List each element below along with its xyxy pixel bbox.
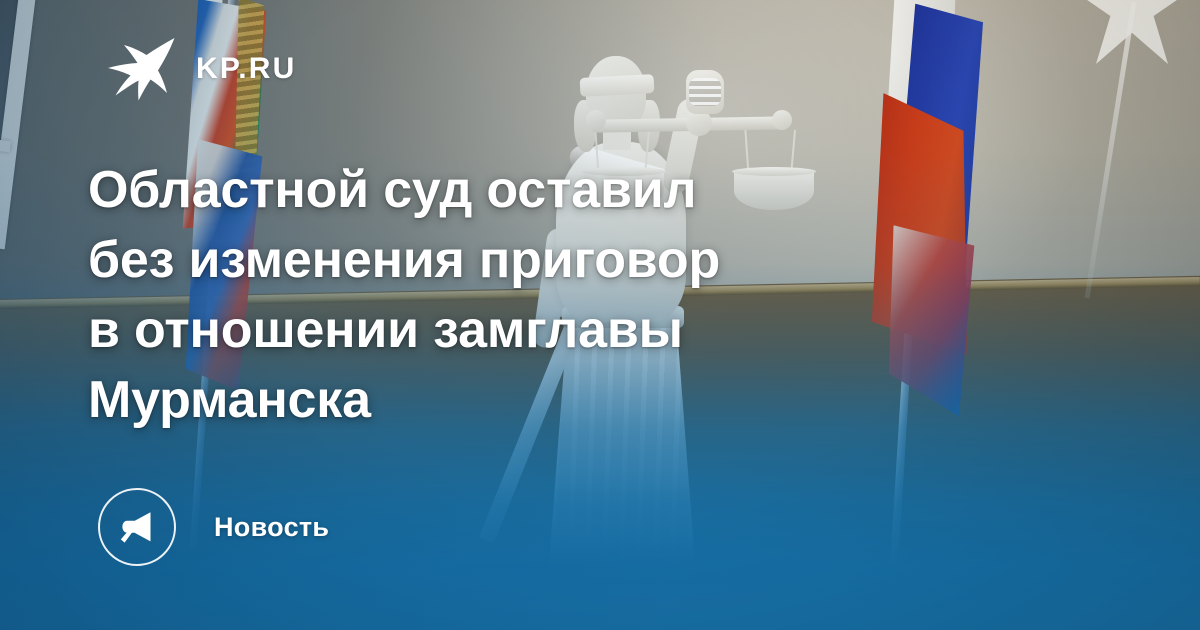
headline-line: Областной суд оставил: [88, 155, 848, 225]
headline-line: в отношении замглавы: [88, 295, 848, 365]
news-share-card: KP.RU Областной суд оставил без изменени…: [0, 0, 1200, 630]
status-badge[interactable]: Новость: [98, 488, 329, 566]
brand-logo[interactable]: KP.RU: [104, 36, 296, 102]
headline-line: Мурманска: [88, 365, 848, 435]
badge-icon-circle: [98, 488, 176, 566]
brand-name: KP.RU: [196, 54, 296, 84]
megaphone-icon: [118, 508, 156, 546]
page-title: Областной суд оставил без изменения приг…: [88, 155, 848, 435]
badge-label: Новость: [214, 514, 329, 541]
swallow-bird-icon: [104, 36, 176, 102]
card-content: KP.RU Областной суд оставил без изменени…: [0, 0, 1200, 630]
headline-line: без изменения приговор: [88, 225, 848, 295]
